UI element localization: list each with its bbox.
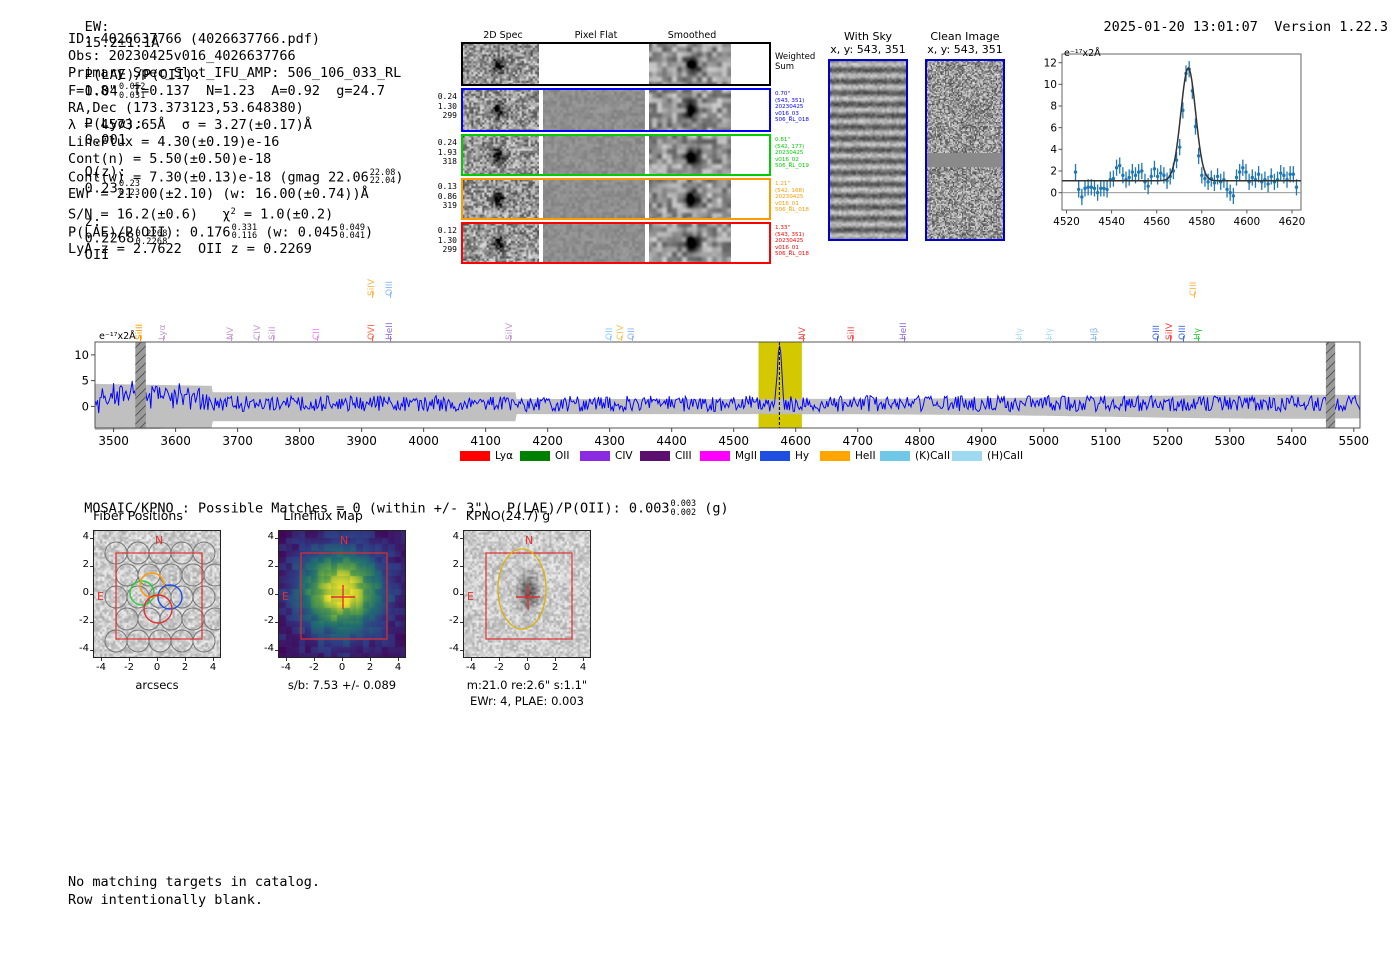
svg-text:4580: 4580 — [1188, 216, 1215, 228]
svg-text:3600: 3600 — [160, 434, 191, 448]
info-cont-w-lo: 22.04 — [370, 177, 396, 186]
info-lineflux: LineFlux = 4.30(±0.19)e-16 — [68, 134, 403, 151]
pixel-flat-image — [543, 90, 645, 130]
panel-x-tick: 4 — [573, 662, 593, 673]
legend-label: Lyα — [495, 450, 513, 462]
montage-row-metrics: 0.24 1.30 299 — [423, 92, 457, 121]
panel-y-tick: 0 — [443, 587, 459, 598]
info-id: ID: 4026637766 (4026637766.pdf) — [68, 31, 403, 48]
panel-image — [93, 530, 221, 658]
info-plae-pre: P(LAE)/P(OII): 0.176 — [68, 224, 231, 240]
data-points — [1074, 61, 1298, 205]
montage-row — [461, 134, 771, 176]
montage-row-meta: 0.70" (543, 351) 20230425 v016_03 506_RL… — [775, 91, 809, 124]
panel-caption: s/b: 7.53 +/- 0.089 — [258, 678, 426, 692]
twod-spec-image — [463, 90, 539, 130]
legend-label: (K)CaII — [915, 450, 950, 462]
smoothed-image — [649, 44, 731, 84]
info-plae-post: ) — [365, 224, 373, 240]
montage-row — [461, 178, 771, 220]
emission-line-label: Hβ — [1090, 296, 1100, 340]
montage-row-metrics: 0.13 0.86 319 — [423, 182, 457, 211]
emission-line-label: NV — [798, 296, 808, 340]
legend-item: (K)CaII — [880, 450, 950, 462]
svg-text:4560: 4560 — [1143, 216, 1170, 228]
panel-y-tick: 0 — [258, 587, 274, 598]
masked-wavelength-band — [1326, 342, 1335, 428]
compass-east-label: E — [467, 590, 474, 603]
emission-line-label: Hγ — [1045, 296, 1055, 340]
svg-text:4400: 4400 — [656, 434, 687, 448]
info-snr-pre: S/N = 16.2(±0.6) χ — [68, 206, 231, 222]
svg-text:3900: 3900 — [346, 434, 377, 448]
legend-item: Lyα — [460, 450, 513, 462]
timestamp: 2025-01-20 13:01:07 — [1104, 19, 1258, 35]
line-profile-plot: 452045404560458046004620024681012e⁻¹⁷x2Å — [1032, 46, 1307, 236]
emission-line-tick — [852, 336, 854, 342]
panel-x-tick: -2 — [304, 662, 324, 673]
panel-y-tick: -2 — [443, 615, 459, 626]
panel-y-tick: 2 — [443, 559, 459, 570]
montage-row — [461, 42, 771, 86]
svg-text:3500: 3500 — [98, 434, 129, 448]
emission-line-tick — [610, 336, 612, 342]
panel-y-tick: 2 — [258, 559, 274, 570]
panel-title: Fiber Positions — [55, 508, 221, 523]
legend-item: Hy — [760, 450, 809, 462]
legend-label: MgII — [735, 450, 757, 462]
line-profile-svg: 452045404560458046004620024681012 — [1032, 46, 1307, 236]
legend-label: (H)CaII — [987, 450, 1023, 462]
panel-x-tick: -4 — [461, 662, 481, 673]
legend-swatch — [580, 451, 610, 461]
emission-line-tick — [1095, 336, 1097, 342]
smoothed-image — [649, 224, 731, 262]
panel-caption: m:21.0 re:2.6" s:1.1" — [443, 678, 611, 692]
svg-text:4520: 4520 — [1053, 216, 1080, 228]
info-plae: P(LAE)/P(OII): 0.1760.3310.116 (w: 0.045… — [68, 224, 403, 242]
panel-y-tick: -4 — [258, 643, 274, 654]
cutout-clean-image — [925, 59, 1005, 241]
legend-swatch — [760, 451, 790, 461]
svg-text:4200: 4200 — [532, 434, 563, 448]
info-primary-spec: Primary Spec_Slot_IFU_AMP: 506_106_033_R… — [68, 65, 403, 82]
legend-swatch — [640, 451, 670, 461]
emission-line-label: SiIII — [135, 296, 145, 340]
panel-x-tick: 2 — [175, 662, 195, 673]
emission-line-label: CII — [312, 296, 322, 340]
emission-line-label: CIV — [616, 296, 626, 340]
emission-line-label: SiIV — [367, 252, 377, 296]
emission-line-tick — [1050, 336, 1052, 342]
panel-title: Lineflux Map — [240, 508, 406, 523]
svg-text:4500: 4500 — [718, 434, 749, 448]
panel-y-tick: 0 — [73, 587, 89, 598]
panel-x-tick: 4 — [388, 662, 408, 673]
legend-label: HeII — [855, 450, 876, 462]
svg-text:4000: 4000 — [408, 434, 439, 448]
svg-text:0: 0 — [1050, 187, 1057, 199]
panel-caption-secondary: EWr: 4, PLAE: 0.003 — [443, 694, 611, 708]
svg-text:4: 4 — [1050, 144, 1057, 156]
legend-label: CIV — [615, 450, 633, 462]
svg-text:10: 10 — [1044, 79, 1057, 91]
image-cutouts-group: With Skyx, y: 543, 351Clean Imagex, y: 5… — [810, 30, 1025, 250]
panel-x-tick: -4 — [276, 662, 296, 673]
emission-line-label: CIII — [1189, 252, 1199, 296]
legend-swatch — [460, 451, 490, 461]
info-wavelength: λ = 4573.65Å σ = 3.27(±0.17)Å — [68, 117, 403, 134]
svg-text:2: 2 — [1050, 166, 1057, 178]
panel-title: KPNO(24.7) g — [425, 508, 591, 523]
montage-row-metrics: 0.24 1.93 318 — [423, 138, 457, 167]
emission-line-tick — [1020, 336, 1022, 342]
emission-line-label: OIII — [385, 252, 395, 296]
twod-spec-image — [463, 136, 539, 174]
info-plae-mid: (w: 0.045 — [257, 224, 338, 240]
cutout-panel: KPNO(24.7) gNE420-2-4-4-2024m:21.0 re:2.… — [425, 508, 625, 658]
emission-line-tick — [803, 336, 805, 342]
montage-row-metrics: 0.12 1.30 299 — [423, 226, 457, 255]
compass-north-label: N — [155, 534, 163, 547]
panel-image — [463, 530, 591, 658]
emission-line-label: SiIV — [1165, 296, 1175, 340]
montage-row-meta: 1.21" (542, 168) 20230425 v016_01 506_RL… — [775, 181, 809, 214]
panel-y-tick: -2 — [258, 615, 274, 626]
twod-spec-image — [463, 44, 539, 84]
info-radec: RA,Dec (173.373123,53.648380) — [68, 100, 403, 117]
pixel-flat-image — [543, 180, 645, 218]
smoothed-image — [649, 90, 731, 130]
emission-line-label: Hγ — [1015, 296, 1025, 340]
legend-item: OII — [520, 450, 569, 462]
legend-item: CIII — [640, 450, 692, 462]
compass-north-label: N — [525, 534, 533, 547]
svg-text:4100: 4100 — [470, 434, 501, 448]
full-spectrum-plot: 3500360037003800390040004100420043004400… — [60, 270, 1370, 470]
svg-text:4800: 4800 — [904, 434, 935, 448]
info-cont-w-pre: Cont(w) = 7.30(±0.13)e-18 (gmag 22.06 — [68, 169, 369, 185]
info-snr: S/N = 16.2(±0.6) χ2 = 1.0(±0.2) — [68, 204, 403, 224]
emission-line-label: NV — [226, 296, 236, 340]
emission-line-label: OII — [627, 296, 637, 340]
svg-text:5100: 5100 — [1090, 434, 1121, 448]
emission-line-label: HeII — [385, 296, 395, 340]
panel-y-tick: 4 — [443, 531, 459, 542]
svg-text:5000: 5000 — [1028, 434, 1059, 448]
info-obs: Obs: 20230425v016_4026637766 — [68, 48, 403, 65]
pixel-flat-image — [543, 224, 645, 262]
cutout-title: Clean Image — [903, 30, 1027, 43]
panel-x-tick: 4 — [203, 662, 223, 673]
svg-text:3800: 3800 — [284, 434, 315, 448]
emission-line-label: SiII — [847, 296, 857, 340]
emission-line-tick — [1157, 336, 1159, 342]
emission-line-label: SiII — [268, 296, 278, 340]
smoothed-image — [649, 180, 731, 218]
twod-spec-image — [463, 180, 539, 218]
info-cont-w: Cont(w) = 7.30(±0.13)e-18 (gmag 22.0622.… — [68, 169, 403, 187]
svg-text:4620: 4620 — [1279, 216, 1306, 228]
svg-text:3700: 3700 — [222, 434, 253, 448]
cutout-panel: Fiber PositionsNE420-2-4-4-2024arcsecs — [55, 508, 255, 658]
svg-text:0: 0 — [82, 399, 89, 413]
emission-line-tick — [372, 292, 374, 298]
emission-line-tick — [1170, 336, 1172, 342]
header-timestamp-version: 2025-01-20 13:01:07 Version 1.22.3 — [1087, 3, 1388, 35]
emission-line-tick — [390, 336, 392, 342]
cutout-panel: Lineflux MapNE420-2-4-4-2024s/b: 7.53 +/… — [240, 508, 440, 658]
info-snr-post: = 1.0(±0.2) — [236, 206, 334, 222]
emission-line-tick — [140, 336, 142, 342]
legend-item: (H)CaII — [952, 450, 1023, 462]
masked-wavelength-band — [135, 342, 146, 428]
emission-line-tick — [1198, 336, 1200, 342]
panel-x-tick: 0 — [517, 662, 537, 673]
emission-line-label: Hγ — [1193, 296, 1203, 340]
emission-line-tick — [510, 336, 512, 342]
twod-spectra-montage: 2D SpecPixel FlatSmoothed0.24 1.30 2990.… — [425, 30, 765, 250]
cutout-sky-image — [828, 59, 908, 241]
source-info-block: ID: 4026637766 (4026637766.pdf) Obs: 202… — [68, 31, 403, 259]
panel-x-tick: 2 — [360, 662, 380, 673]
emission-line-label: OII — [605, 296, 615, 340]
panel-image — [278, 530, 406, 658]
svg-text:5400: 5400 — [1277, 434, 1308, 448]
emission-line-label: HeII — [899, 296, 909, 340]
emission-highlight-band — [759, 342, 802, 428]
mosaic-text-post: (g) — [696, 501, 729, 517]
emission-line-label: CIV — [253, 296, 263, 340]
emission-line-tick — [163, 336, 165, 342]
emission-line-tick — [1183, 336, 1185, 342]
pixel-flat-image — [543, 44, 645, 84]
panel-x-tick: 0 — [332, 662, 352, 673]
pixel-flat-image — [543, 136, 645, 174]
panel-y-tick: 4 — [73, 531, 89, 542]
svg-text:6: 6 — [1050, 122, 1057, 134]
cutout-subtitle: x, y: 543, 351 — [903, 43, 1027, 56]
legend-swatch — [700, 451, 730, 461]
panel-x-tick: -4 — [91, 662, 111, 673]
svg-text:5500: 5500 — [1339, 434, 1370, 448]
montage-row — [461, 222, 771, 264]
gaussian-fit-curve — [1062, 68, 1301, 181]
legend-item: MgII — [700, 450, 757, 462]
montage-col-header-0: 2D Spec — [463, 30, 543, 41]
footer-line-1: No matching targets in catalog. — [68, 874, 320, 892]
legend-swatch — [820, 451, 850, 461]
info-plae-lo: 0.116 — [232, 232, 258, 241]
spectrum-flux-unit: e⁻¹⁷x2Å — [99, 331, 136, 342]
emission-line-tick — [231, 336, 233, 342]
svg-text:4600: 4600 — [780, 434, 811, 448]
emission-line-label: Lyα — [158, 296, 168, 340]
compass-north-label: N — [340, 534, 348, 547]
montage-row — [461, 88, 771, 132]
cutout-panels-group: Fiber PositionsNE420-2-4-4-2024arcsecsLi… — [55, 508, 675, 738]
svg-text:4540: 4540 — [1098, 216, 1125, 228]
svg-text:5: 5 — [82, 374, 89, 388]
legend-label: Hy — [795, 450, 809, 462]
panel-y-tick: -2 — [73, 615, 89, 626]
svg-text:4300: 4300 — [594, 434, 625, 448]
emission-line-tick — [372, 336, 374, 342]
footer-line-2: Row intentionally blank. — [68, 892, 320, 910]
emission-line-tick — [273, 336, 275, 342]
emission-line-tick — [390, 292, 392, 298]
svg-text:5200: 5200 — [1152, 434, 1183, 448]
panel-y-tick: 4 — [258, 531, 274, 542]
info-cont-n: Cont(n) = 5.50(±0.50)e-18 — [68, 151, 403, 168]
svg-text:4700: 4700 — [842, 434, 873, 448]
panel-y-tick: 2 — [73, 559, 89, 570]
panel-x-tick: 0 — [147, 662, 167, 673]
emission-line-tick — [632, 336, 634, 342]
montage-col-header-1: Pixel Flat — [543, 30, 649, 41]
legend-swatch — [880, 451, 910, 461]
panel-y-tick: -4 — [443, 643, 459, 654]
legend-item: HeII — [820, 450, 876, 462]
svg-text:8: 8 — [1050, 101, 1057, 113]
panel-caption: arcsecs — [73, 678, 241, 692]
panel-y-tick: -4 — [73, 643, 89, 654]
footer-note: No matching targets in catalog. Row inte… — [68, 874, 320, 909]
emission-line-label: OIII — [1152, 296, 1162, 340]
smoothed-image — [649, 136, 731, 174]
emission-line-label: SiIV — [505, 296, 515, 340]
legend-label: CIII — [675, 450, 692, 462]
info-cont-w-post: ) — [395, 169, 403, 185]
info-redshifts: LyA z = 2.7622 OII z = 0.2269 — [68, 241, 403, 258]
emission-line-tick — [621, 336, 623, 342]
svg-text:4600: 4600 — [1234, 216, 1261, 228]
legend-item: CIV — [580, 450, 633, 462]
compass-east-label: E — [282, 590, 289, 603]
flux-unit-annotation: e⁻¹⁷x2Å — [1064, 48, 1101, 59]
twod-spec-image — [463, 224, 539, 262]
emission-line-label: OIII — [1178, 296, 1188, 340]
info-seeing: F=1.8" T=0.137 N=1.23 A=0.92 g=24.7 — [68, 83, 403, 100]
legend-swatch — [952, 451, 982, 461]
legend-swatch — [520, 451, 550, 461]
emission-line-tick — [317, 336, 319, 342]
svg-text:5300: 5300 — [1215, 434, 1246, 448]
emission-line-label: OVI — [367, 296, 377, 340]
compass-east-label: E — [97, 590, 104, 603]
emission-line-tick — [904, 336, 906, 342]
montage-row-meta: 0.81" (542, 177) 20230425 v016_02 506_RL… — [775, 137, 809, 170]
legend-label: OII — [555, 450, 569, 462]
emission-line-tick — [258, 336, 260, 342]
info-plae-wlo: 0.041 — [339, 232, 365, 241]
version: Version 1.22.3 — [1274, 19, 1388, 35]
panel-x-tick: 2 — [545, 662, 565, 673]
svg-text:10: 10 — [74, 348, 89, 362]
info-ewr: EWr = 21.00(±2.10) (w: 16.00(±0.74))Å — [68, 186, 403, 203]
montage-col-header-2: Smoothed — [649, 30, 735, 41]
panel-x-tick: -2 — [119, 662, 139, 673]
montage-row-meta: 1.33" (543, 351) 20230425 v016_01 506_RL… — [775, 225, 809, 258]
panel-x-tick: -2 — [489, 662, 509, 673]
svg-text:12: 12 — [1044, 57, 1057, 69]
svg-text:4900: 4900 — [966, 434, 997, 448]
